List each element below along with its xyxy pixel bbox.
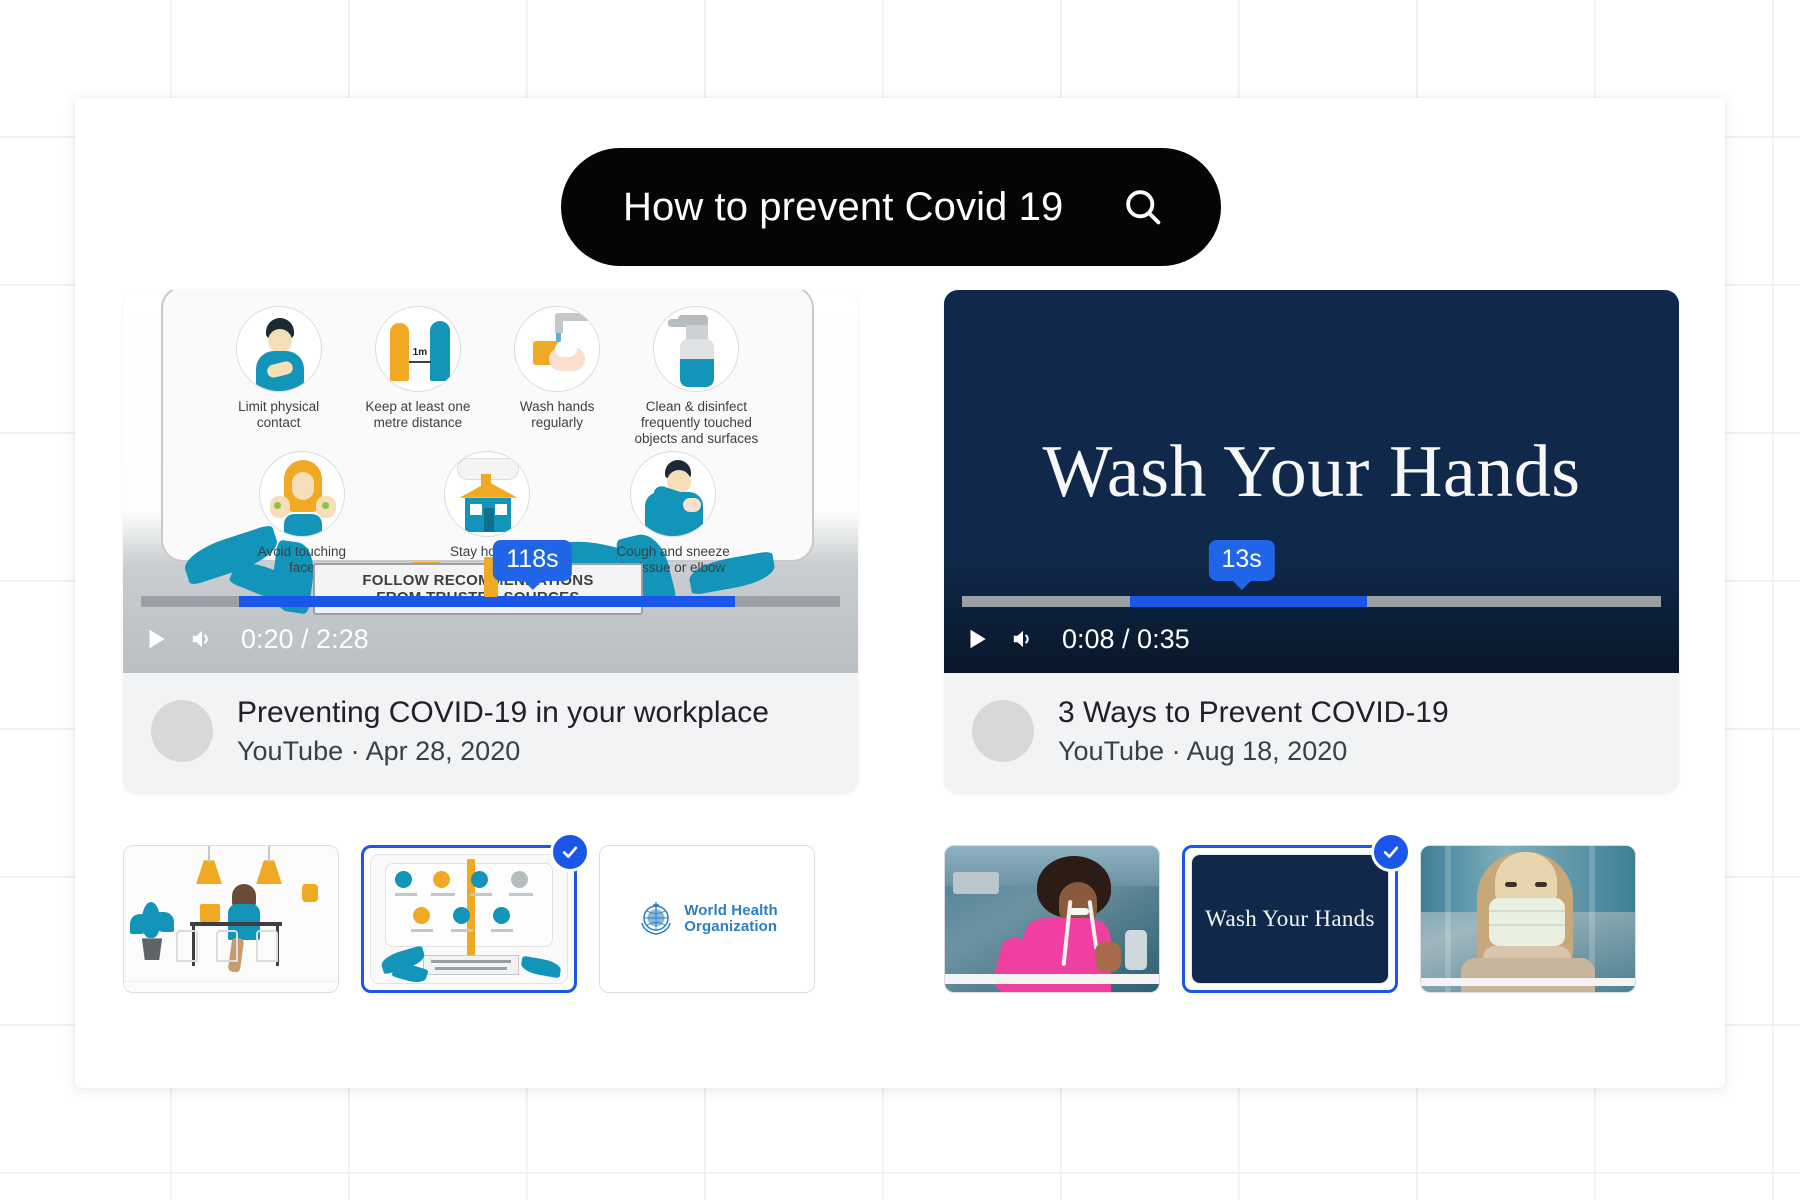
thumbnail-image: Wash Your Hands xyxy=(1192,855,1388,983)
stay-home-icon xyxy=(444,451,530,537)
title-navy: Wash Your Hands xyxy=(1192,855,1388,983)
thumbnail-item-wrap xyxy=(1420,845,1636,993)
result-card-right: Wash Your Hands 13s xyxy=(944,290,1679,993)
track-segment-before[interactable] xyxy=(141,596,239,607)
thumbnail-image xyxy=(945,846,1159,992)
video-title[interactable]: Preventing COVID-19 in your workplace xyxy=(237,695,769,731)
player-control-row: 0:20 / 2:28 xyxy=(141,619,840,659)
thumbnail-item-wrap xyxy=(123,845,339,993)
infographic-item: Wash hands regularly xyxy=(488,306,627,447)
wash-hands-icon xyxy=(514,306,600,392)
distance-icon: 1m xyxy=(375,306,461,392)
video-meta: Preventing COVID-19 in your workplace Yo… xyxy=(123,673,858,793)
thumbnail-who-logo[interactable]: World Health Organization xyxy=(599,845,815,993)
infographic-board: Limit physical contact 1m xyxy=(161,290,814,562)
photo-mask xyxy=(1421,846,1635,992)
thumbnail-item-wrap xyxy=(944,845,1160,993)
clip-duration-badge[interactable]: 13s xyxy=(1208,540,1274,581)
who-logo: World Health Organization xyxy=(600,846,814,992)
cough-sneeze-icon xyxy=(630,451,716,537)
thumbnail-image xyxy=(371,855,567,983)
track-segment-clip[interactable] xyxy=(239,596,735,607)
meta-text: Preventing COVID-19 in your workplace Yo… xyxy=(237,695,769,767)
results-row: Limit physical contact 1m xyxy=(123,290,1679,993)
thumbnail-wash-your-hands[interactable]: Wash Your Hands xyxy=(1182,845,1398,993)
result-card-left: Limit physical contact 1m xyxy=(123,290,858,993)
infographic-grid: Limit physical contact 1m xyxy=(209,306,766,576)
video-subtitle: YouTube · Aug 18, 2020 xyxy=(1058,735,1449,767)
video-card[interactable]: Wash Your Hands 13s xyxy=(944,290,1679,793)
time-display: 0:20 / 2:28 xyxy=(241,624,369,655)
progress-track[interactable]: 13s xyxy=(962,596,1661,607)
thumbnail-image: World Health Organization xyxy=(600,846,814,992)
volume-icon[interactable] xyxy=(187,624,217,654)
search-query-text: How to prevent Covid 19 xyxy=(623,185,1063,230)
video-card[interactable]: Limit physical contact 1m xyxy=(123,290,858,793)
track-segment-before[interactable] xyxy=(962,596,1130,607)
infographic-label: Wash hands regularly xyxy=(488,399,627,431)
thumbnail-woman-mask[interactable] xyxy=(1420,845,1636,993)
player-controls: 13s 0:08 / xyxy=(944,596,1679,673)
thumbnail-image xyxy=(124,846,338,992)
thumbnail-strip: World Health Organization xyxy=(123,831,858,993)
player-control-row: 0:08 / 0:35 xyxy=(962,619,1661,659)
player-controls: 118s 0:20 / xyxy=(123,596,858,673)
infographic-label: Keep at least one metre distance xyxy=(348,399,487,431)
who-logo-text: World Health Organization xyxy=(684,903,777,937)
video-title[interactable]: 3 Ways to Prevent COVID-19 xyxy=(1058,695,1449,731)
infographic-item: Avoid touching face xyxy=(209,451,395,576)
video-player[interactable]: Limit physical contact 1m xyxy=(123,290,858,673)
player-title-text: Wash Your Hands xyxy=(944,430,1679,515)
thumbnail-who-infographic[interactable] xyxy=(361,845,577,993)
search-bar[interactable]: How to prevent Covid 19 xyxy=(561,148,1221,266)
progress-track[interactable]: 118s xyxy=(141,596,840,607)
photo-runner xyxy=(945,846,1159,992)
infographic-item: Clean & disinfect frequently touched obj… xyxy=(627,306,766,447)
thumbnail-woman-running[interactable] xyxy=(944,845,1160,993)
main-panel: How to prevent Covid 19 xyxy=(75,98,1725,1088)
selected-check-icon[interactable] xyxy=(1371,832,1411,872)
time-display: 0:08 / 0:35 xyxy=(1062,624,1190,655)
thumbnail-item-wrap xyxy=(361,845,577,993)
selected-check-icon[interactable] xyxy=(550,832,590,872)
track-segment-after[interactable] xyxy=(735,596,840,607)
thumbnail-title-text: Wash Your Hands xyxy=(1205,906,1374,932)
play-icon[interactable] xyxy=(962,624,992,654)
avatar xyxy=(151,700,213,762)
thumbnail-strip: Wash Your Hands xyxy=(944,831,1679,993)
infographic-item: Limit physical contact xyxy=(209,306,348,447)
meta-text: 3 Ways to Prevent COVID-19 YouTube · Aug… xyxy=(1058,695,1449,767)
avoid-touching-face-icon xyxy=(259,451,345,537)
infographic-item: Cough and sneeze in tissue or elbow xyxy=(580,451,766,576)
avatar xyxy=(972,700,1034,762)
volume-icon[interactable] xyxy=(1008,624,1038,654)
infographic-label: Limit physical contact xyxy=(209,399,348,431)
video-meta: 3 Ways to Prevent COVID-19 YouTube · Aug… xyxy=(944,673,1679,793)
search-icon[interactable] xyxy=(1121,185,1165,229)
track-segment-after[interactable] xyxy=(1367,596,1661,607)
infographic-label: Clean & disinfect frequently touched obj… xyxy=(627,399,766,447)
thumbnail-woman-desk[interactable] xyxy=(123,845,339,993)
limit-contact-icon xyxy=(236,306,322,392)
thumbnail-image xyxy=(1421,846,1635,992)
illustration-infographic xyxy=(371,855,567,983)
video-player[interactable]: Wash Your Hands 13s xyxy=(944,290,1679,673)
clip-duration-badge[interactable]: 118s xyxy=(493,540,571,581)
thumbnail-item-wrap: World Health Organization xyxy=(599,845,815,993)
disinfect-icon xyxy=(653,306,739,392)
illustration-desk xyxy=(124,846,338,992)
video-subtitle: YouTube · Apr 28, 2020 xyxy=(237,735,769,767)
track-segment-clip[interactable] xyxy=(1130,596,1368,607)
distance-label: 1m xyxy=(409,347,431,358)
thumbnail-item-wrap: Wash Your Hands xyxy=(1182,845,1398,993)
play-icon[interactable] xyxy=(141,624,171,654)
infographic-item: 1m Keep at least one metre distance xyxy=(348,306,487,447)
who-emblem-icon xyxy=(636,899,676,939)
